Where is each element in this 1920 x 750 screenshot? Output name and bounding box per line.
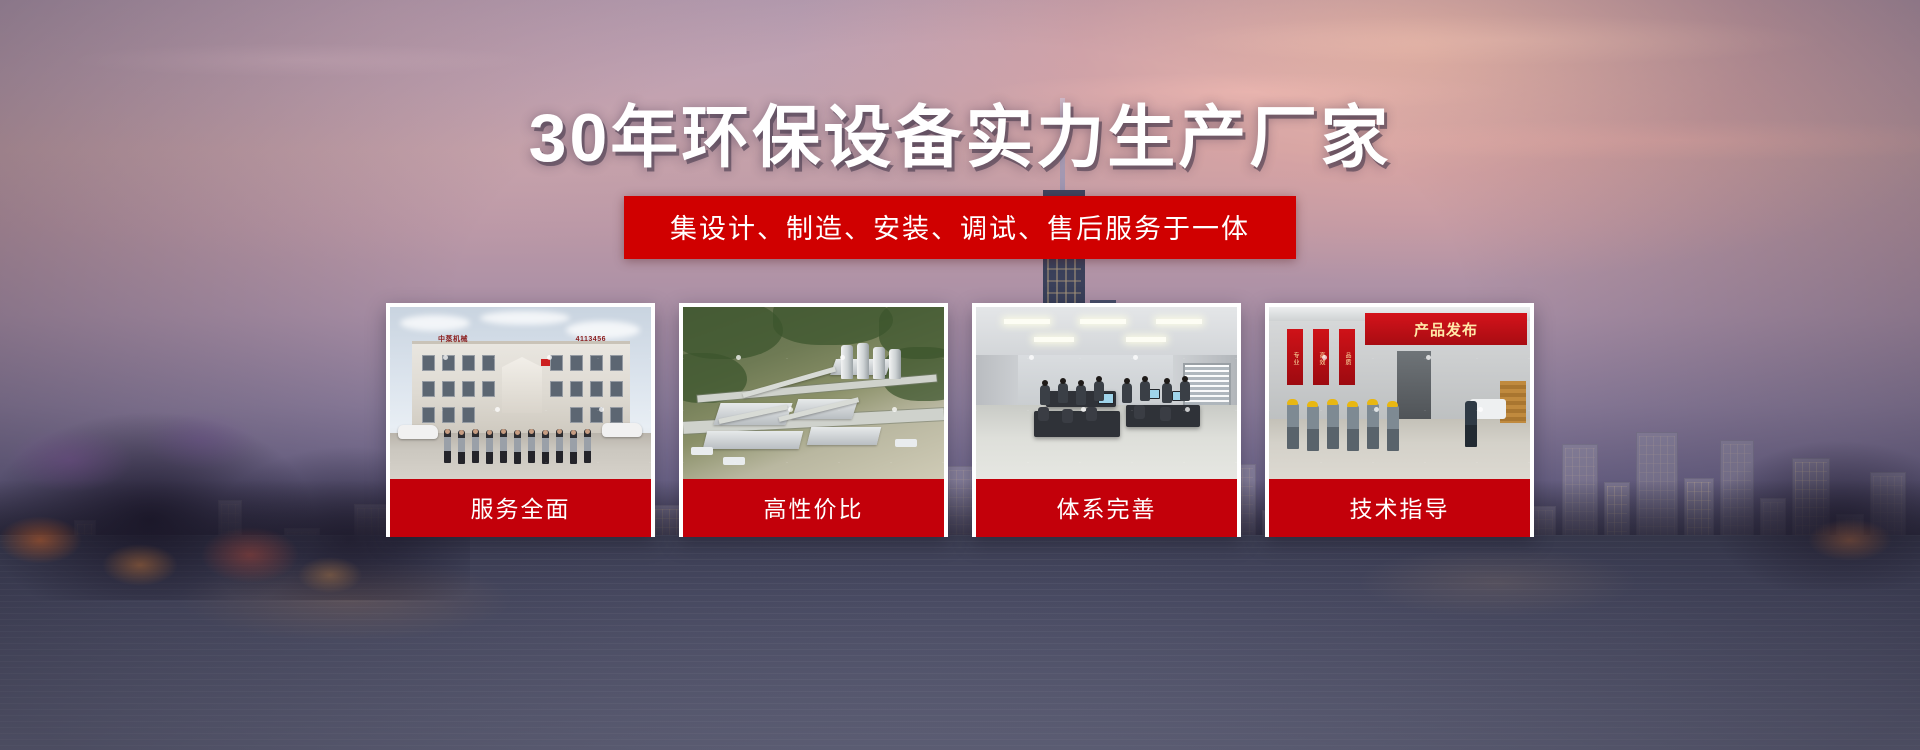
feature-card-caption: 技术指导 [1269, 479, 1530, 537]
office-meeting-room-photo [976, 307, 1237, 479]
vertical-banner-left: 专业 [1287, 329, 1303, 385]
feature-card-row: 中蒸机械 4113456 [386, 303, 1534, 537]
feature-card[interactable]: 高性价比 [679, 303, 948, 537]
roof-sign-company: 中蒸机械 [438, 334, 468, 344]
roof-sign-phone: 4113456 [576, 336, 606, 343]
feature-card-caption: 高性价比 [683, 479, 944, 537]
feature-card[interactable]: 产品发布 专业 高效 品质 [1265, 303, 1534, 537]
wall-banner: 产品发布 [1365, 313, 1527, 345]
factory-yard-workers-photo: 产品发布 专业 高效 品质 [1269, 307, 1530, 479]
wall-banner-text: 产品发布 [1365, 313, 1527, 345]
banner-headline: 30年环保设备实力生产厂家 [529, 104, 1392, 172]
aerial-factory-plant-photo [683, 307, 944, 479]
feature-card-caption: 服务全面 [390, 479, 651, 537]
hero-banner: 30年环保设备实力生产厂家 集设计、制造、安装、调试、售后服务于一体 中蒸机械 … [0, 0, 1920, 750]
company-building-staff-photo: 中蒸机械 4113456 [390, 307, 651, 479]
feature-card[interactable]: 体系完善 [972, 303, 1241, 537]
banner-subtitle-bar: 集设计、制造、安装、调试、售后服务于一体 [624, 196, 1296, 259]
vertical-banner-right: 品质 [1339, 329, 1355, 385]
banner-content: 30年环保设备实力生产厂家 集设计、制造、安装、调试、售后服务于一体 中蒸机械 … [0, 0, 1920, 750]
building-roof-sign: 中蒸机械 4113456 [438, 333, 606, 345]
feature-card-caption: 体系完善 [976, 479, 1237, 537]
feature-card[interactable]: 中蒸机械 4113456 [386, 303, 655, 537]
